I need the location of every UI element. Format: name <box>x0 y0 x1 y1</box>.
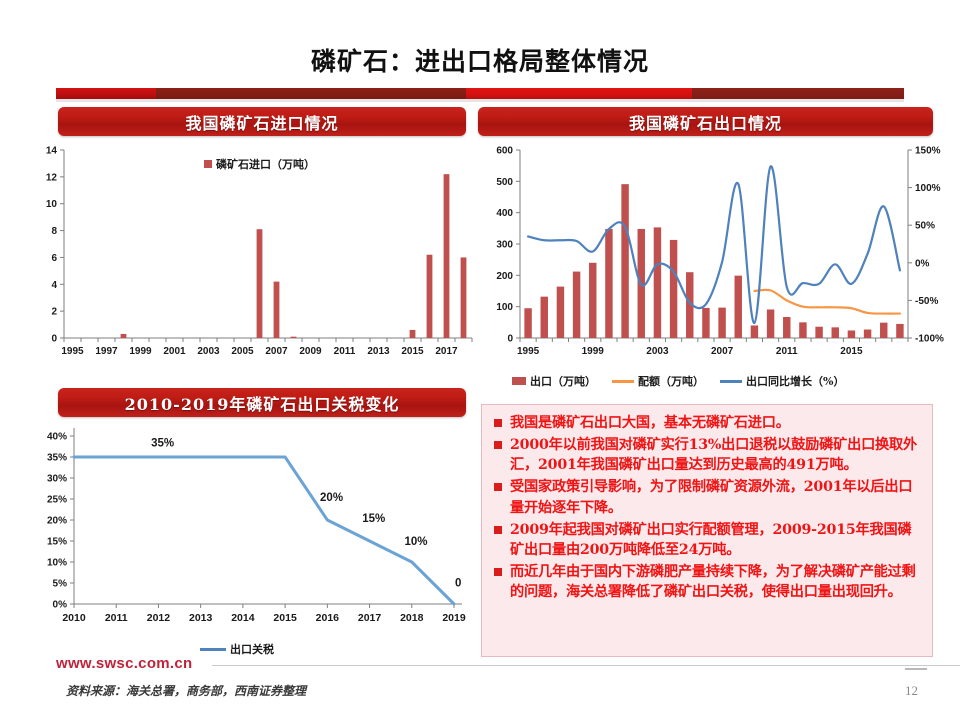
note-text: 受国家政策引导影响，为了限制磷矿资源外流，2001年以后出口量开始逐年下降。 <box>510 477 922 517</box>
svg-text:1999: 1999 <box>582 346 605 357</box>
svg-text:2017: 2017 <box>435 346 458 357</box>
svg-text:2005: 2005 <box>231 346 254 357</box>
chart-export: 0100200300400500600-100%-50%0%50%100%150… <box>484 142 944 364</box>
svg-text:2014: 2014 <box>231 612 255 624</box>
svg-text:150%: 150% <box>915 146 941 157</box>
svg-text:2018: 2018 <box>400 612 424 624</box>
bullet-square-icon <box>494 441 502 449</box>
svg-text:2015: 2015 <box>840 346 863 357</box>
legend-item-yoy: 出口同比增长（%） <box>720 373 844 389</box>
notes-panel: 我国是磷矿石出口大国，基本无磷矿石进口。 2000年以前我国对磷矿实行13%出口… <box>481 404 933 657</box>
bullet-square-icon <box>494 483 502 491</box>
svg-text:0%: 0% <box>915 258 930 269</box>
chart-tariff-canvas: 0%5%10%15%20%25%30%35%40%201020112012201… <box>34 418 474 633</box>
svg-text:2013: 2013 <box>189 612 213 624</box>
legend-label: 磷矿石进口（万吨） <box>216 156 315 172</box>
svg-text:12: 12 <box>46 172 58 183</box>
svg-text:0: 0 <box>507 334 513 345</box>
svg-text:600: 600 <box>496 146 513 157</box>
svg-text:2010: 2010 <box>62 612 86 624</box>
note-text: 而近几年由于国内下游磷肥产量持续下降，为了解决磷矿产能过剩的问题，海关总署降低了… <box>510 562 922 602</box>
svg-text:2015: 2015 <box>401 346 424 357</box>
svg-text:5%: 5% <box>53 579 68 590</box>
deco-segment-mid <box>460 88 692 99</box>
deco-segment-right <box>692 88 904 99</box>
svg-text:8: 8 <box>51 226 57 237</box>
page-title: 磷矿石：进出口格局整体情况 <box>0 42 960 78</box>
chart-import-legend: 磷矿石进口（万吨） <box>204 156 315 172</box>
svg-text:20%: 20% <box>47 516 67 527</box>
footer-divider <box>212 665 960 666</box>
svg-text:35%: 35% <box>47 453 67 464</box>
section-header-tariff: 2010-2019年磷矿石出口关税变化 <box>58 388 466 417</box>
legend-item-export-volume: 出口（万吨） <box>512 373 596 389</box>
svg-text:1997: 1997 <box>95 346 118 357</box>
chart-export-canvas: 0100200300400500600-100%-50%0%50%100%150… <box>484 142 944 364</box>
svg-text:10%: 10% <box>47 558 67 569</box>
footer-source-note: 资料来源：海关总署，商务部，西南证券整理 <box>66 682 306 699</box>
svg-text:2012: 2012 <box>147 612 171 624</box>
svg-text:2016: 2016 <box>316 612 340 624</box>
legend-swatch-icon <box>720 380 742 383</box>
chart-import: 0246810121419951997199920012003200520072… <box>34 142 474 364</box>
legend-item-tariff: 出口关税 <box>200 641 274 657</box>
svg-text:2007: 2007 <box>265 346 288 357</box>
svg-text:15%: 15% <box>47 537 67 548</box>
page-number: 12 <box>905 683 918 699</box>
legend-swatch-icon <box>200 648 226 651</box>
svg-text:6: 6 <box>51 253 57 264</box>
legend-label: 出口（万吨） <box>530 373 596 389</box>
svg-text:100: 100 <box>496 302 513 313</box>
svg-text:2011: 2011 <box>334 346 356 357</box>
bullet-square-icon <box>494 419 502 427</box>
svg-text:14: 14 <box>46 146 58 157</box>
svg-text:40%: 40% <box>47 432 67 443</box>
svg-text:2007: 2007 <box>711 346 734 357</box>
svg-text:2001: 2001 <box>163 346 186 357</box>
list-item: 2009年起我国对磷矿出口实行配额管理，2009-2015年我国磷矿出口量由20… <box>490 520 922 560</box>
svg-text:15%: 15% <box>362 513 385 525</box>
svg-text:2: 2 <box>51 307 57 318</box>
svg-text:100%: 100% <box>915 183 941 194</box>
note-text: 2009年起我国对磷矿出口实行配额管理，2009-2015年我国磷矿出口量由20… <box>510 520 922 560</box>
svg-text:25%: 25% <box>47 495 67 506</box>
svg-text:20%: 20% <box>320 492 343 504</box>
svg-text:-100%: -100% <box>915 334 944 345</box>
legend-swatch-icon <box>512 377 526 385</box>
slide-root: 磷矿石：进出口格局整体情况 我国磷矿石进口情况 我国磷矿石出口情况 2010-2… <box>0 0 960 720</box>
legend-label: 出口关税 <box>230 641 274 657</box>
legend-swatch-icon <box>612 380 634 383</box>
svg-text:400: 400 <box>496 208 513 219</box>
svg-text:2013: 2013 <box>367 346 390 357</box>
svg-text:2011: 2011 <box>105 612 128 624</box>
bullet-square-icon <box>494 568 502 576</box>
svg-text:0: 0 <box>51 334 57 345</box>
bullet-square-icon <box>494 526 502 534</box>
legend-item-quota: 配额（万吨） <box>612 373 704 389</box>
chart-export-legend: 出口（万吨） 配额（万吨） 出口同比增长（%） <box>512 373 844 389</box>
svg-text:35%: 35% <box>151 438 174 450</box>
legend-label: 配额（万吨） <box>638 373 704 389</box>
legend-item-import: 磷矿石进口（万吨） <box>204 156 315 172</box>
footer-website-link[interactable]: www.swsc.com.cn <box>56 655 193 672</box>
title-decoration-bar <box>56 88 904 99</box>
svg-text:0%: 0% <box>53 600 68 611</box>
svg-text:2003: 2003 <box>197 346 220 357</box>
svg-text:2003: 2003 <box>646 346 669 357</box>
svg-text:2011: 2011 <box>776 346 798 357</box>
svg-text:1995: 1995 <box>61 346 84 357</box>
svg-text:300: 300 <box>496 240 513 251</box>
svg-text:30%: 30% <box>47 474 67 485</box>
section-header-export: 我国磷矿石出口情况 <box>478 107 933 136</box>
svg-text:2009: 2009 <box>299 346 322 357</box>
svg-text:1995: 1995 <box>517 346 540 357</box>
note-text: 我国是磷矿石出口大国，基本无磷矿石进口。 <box>510 413 790 433</box>
section-header-import: 我国磷矿石进口情况 <box>58 107 466 136</box>
list-item: 受国家政策引导影响，为了限制磷矿资源外流，2001年以后出口量开始逐年下降。 <box>490 477 922 517</box>
svg-text:500: 500 <box>496 177 513 188</box>
note-text: 2000年以前我国对磷矿实行13%出口退税以鼓励磷矿出口换取外汇，2001年我国… <box>510 435 922 475</box>
list-item: 2000年以前我国对磷矿实行13%出口退税以鼓励磷矿出口换取外汇，2001年我国… <box>490 435 922 475</box>
deco-segment-dark <box>156 88 466 99</box>
chart-tariff-legend: 出口关税 <box>200 641 274 657</box>
svg-text:1999: 1999 <box>129 346 152 357</box>
chart-tariff: 0%5%10%15%20%25%30%35%40%201020112012201… <box>34 418 474 633</box>
svg-text:-50%: -50% <box>915 296 938 307</box>
deco-shadow <box>56 99 904 102</box>
legend-label: 出口同比增长（%） <box>746 373 844 389</box>
list-item: 我国是磷矿石出口大国，基本无磷矿石进口。 <box>490 413 922 433</box>
svg-text:50%: 50% <box>915 221 935 232</box>
svg-text:4: 4 <box>51 280 57 291</box>
svg-text:0: 0 <box>455 577 461 589</box>
svg-text:10: 10 <box>46 199 58 210</box>
list-item: 而近几年由于国内下游磷肥产量持续下降，为了解决磷矿产能过剩的问题，海关总署降低了… <box>490 562 922 602</box>
svg-text:10%: 10% <box>404 536 427 548</box>
legend-swatch-icon <box>204 160 212 168</box>
svg-text:2019: 2019 <box>442 612 466 624</box>
chart-import-canvas: 0246810121419951997199920012003200520072… <box>34 142 474 364</box>
svg-text:2015: 2015 <box>273 612 297 624</box>
page-number-rule <box>905 668 927 670</box>
svg-text:200: 200 <box>496 271 513 282</box>
svg-text:2017: 2017 <box>358 612 382 624</box>
